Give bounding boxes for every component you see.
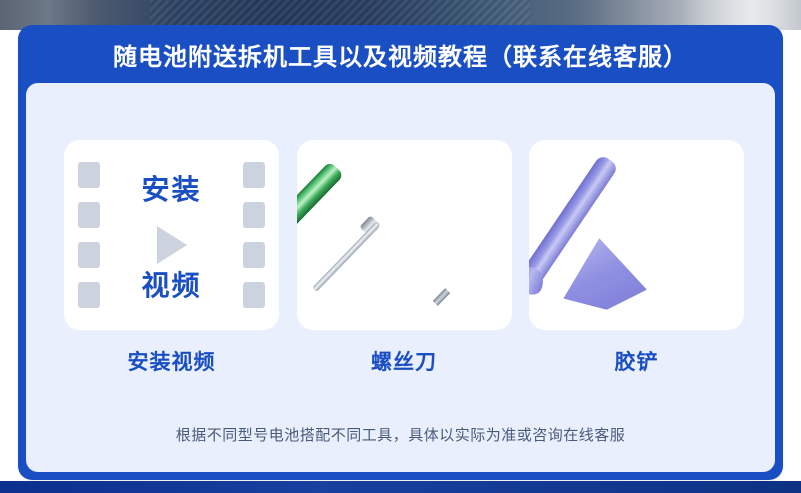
tile-screwdriver[interactable] [297, 140, 512, 330]
tile-pry-tool[interactable] [529, 140, 744, 330]
bottom-blue-strip [0, 481, 801, 493]
product-detail-page: 随电池附送拆机工具以及视频教程（联系在线客服） 安装 视频 [0, 0, 801, 493]
screwdriver-tip [432, 288, 450, 306]
label-pry-tool: 胶铲 [529, 346, 744, 380]
video-thumbnail: 安装 视频 [64, 140, 279, 330]
tile-row: 安装 视频 [64, 140, 744, 330]
tile-label-row: 安装视频 螺丝刀 胶铲 [64, 346, 744, 380]
pry-pick-icon [557, 234, 648, 314]
video-thumb-text-top: 安装 [64, 168, 279, 208]
footnote: 根据不同型号电池搭配不同工具，具体以实际为准或咨询在线客服 [26, 424, 775, 445]
card-title: 随电池附送拆机工具以及视频教程（联系在线客服） [18, 25, 783, 83]
play-triangle-icon[interactable] [157, 226, 187, 264]
card-inner-panel: 安装 视频 [26, 83, 775, 472]
screwdriver-shaft [311, 222, 379, 292]
video-thumb-text-bottom: 视频 [64, 264, 279, 304]
tools-card: 随电池附送拆机工具以及视频教程（联系在线客服） 安装 视频 [18, 25, 783, 480]
label-install-video: 安装视频 [64, 346, 279, 380]
tile-install-video[interactable]: 安装 视频 [64, 140, 279, 330]
screwdriver-icon [297, 140, 512, 330]
screwdriver-handle [297, 161, 344, 228]
label-screwdriver: 螺丝刀 [297, 346, 512, 380]
